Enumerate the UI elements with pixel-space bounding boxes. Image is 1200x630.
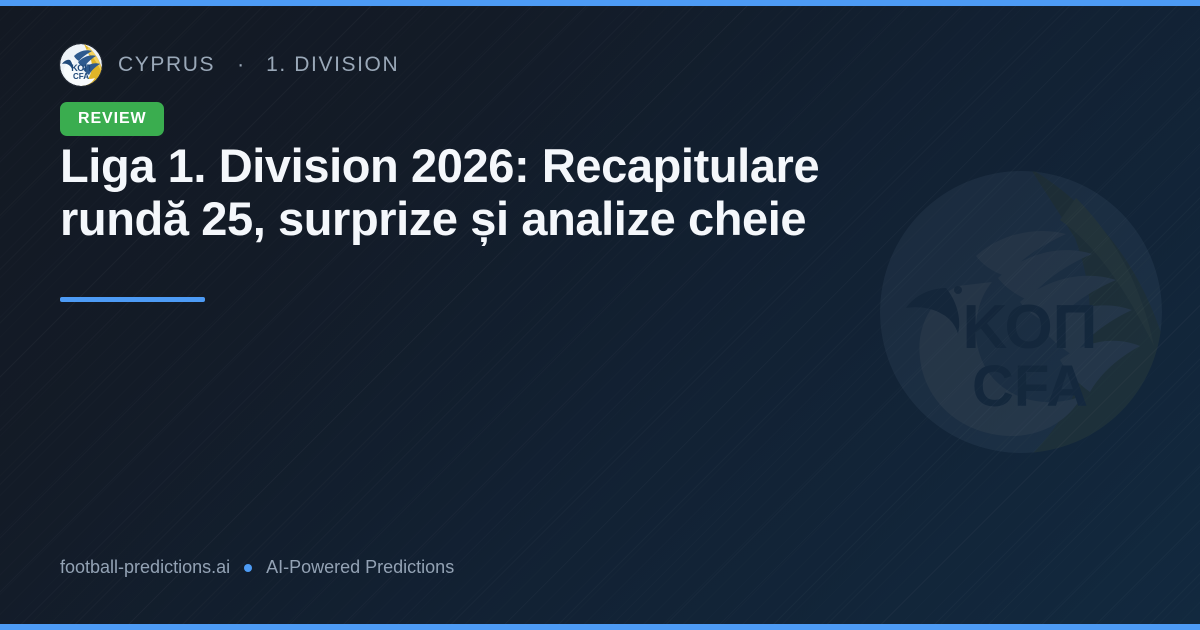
footer: football-predictions.ai AI-Powered Predi… — [60, 557, 454, 578]
breadcrumb-separator: · — [231, 53, 250, 77]
svg-text:CFA: CFA — [73, 72, 89, 81]
svg-text:ΚΟΠ: ΚΟΠ — [963, 293, 1098, 362]
footer-site: football-predictions.ai — [60, 557, 230, 578]
page-title: Liga 1. Division 2026: Recapitulare rund… — [60, 140, 940, 245]
breadcrumb-competition: 1. DIVISION — [266, 53, 399, 77]
og-card: ΚΟΠ CFA ΚΟΠ — [0, 0, 1200, 630]
accent-rule — [60, 297, 205, 302]
svg-text:CFA: CFA — [972, 354, 1088, 419]
card-content: ΚΟΠ CFA CYPRUS · 1. DIVISION REVIEW Liga… — [60, 0, 960, 630]
footer-tagline: AI-Powered Predictions — [266, 557, 454, 578]
breadcrumb: ΚΟΠ CFA CYPRUS · 1. DIVISION — [60, 44, 399, 86]
cyprus-football-association-logo-icon: ΚΟΠ CFA — [60, 44, 102, 86]
blue-dot-icon — [244, 564, 252, 572]
breadcrumb-country: CYPRUS — [118, 53, 215, 77]
status-badge: REVIEW — [60, 102, 164, 136]
